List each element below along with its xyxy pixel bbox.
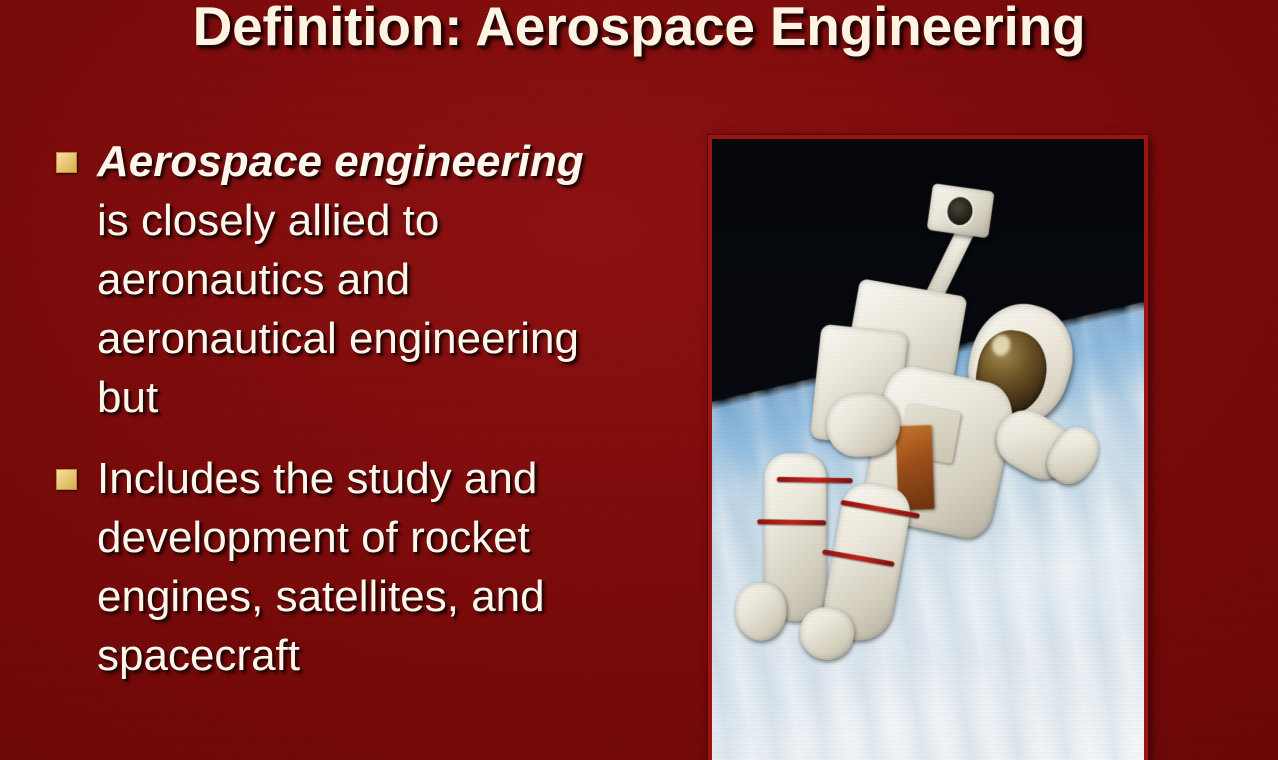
list-item: Includes the study and development of ro… [56, 449, 586, 685]
bullet-body-text: Includes the study and development of ro… [97, 454, 545, 680]
bullet-text: Includes the study and development of ro… [97, 449, 586, 685]
bullet-text: Aerospace engineering is closely allied … [97, 132, 586, 427]
left-boot [734, 583, 785, 641]
left-arm [825, 393, 900, 458]
presentation-slide: Definition: Aerospace Engineering Aerosp… [0, 0, 1278, 760]
astronaut-photo-frame [708, 135, 1148, 760]
slide-body-content: Aerospace engineering is closely allied … [56, 132, 586, 707]
bullet-lead-term: Aerospace engineering [97, 137, 584, 186]
square-bullet-icon [56, 152, 77, 173]
square-bullet-icon [56, 469, 77, 490]
astronaut-spacewalk-photo [712, 139, 1144, 760]
list-item: Aerospace engineering is closely allied … [56, 132, 586, 427]
slide-title-area: Definition: Aerospace Engineering [0, 0, 1278, 68]
page-title: Definition: Aerospace Engineering [193, 0, 1086, 58]
bullet-body-text: is closely allied to aeronautics and aer… [97, 196, 579, 422]
